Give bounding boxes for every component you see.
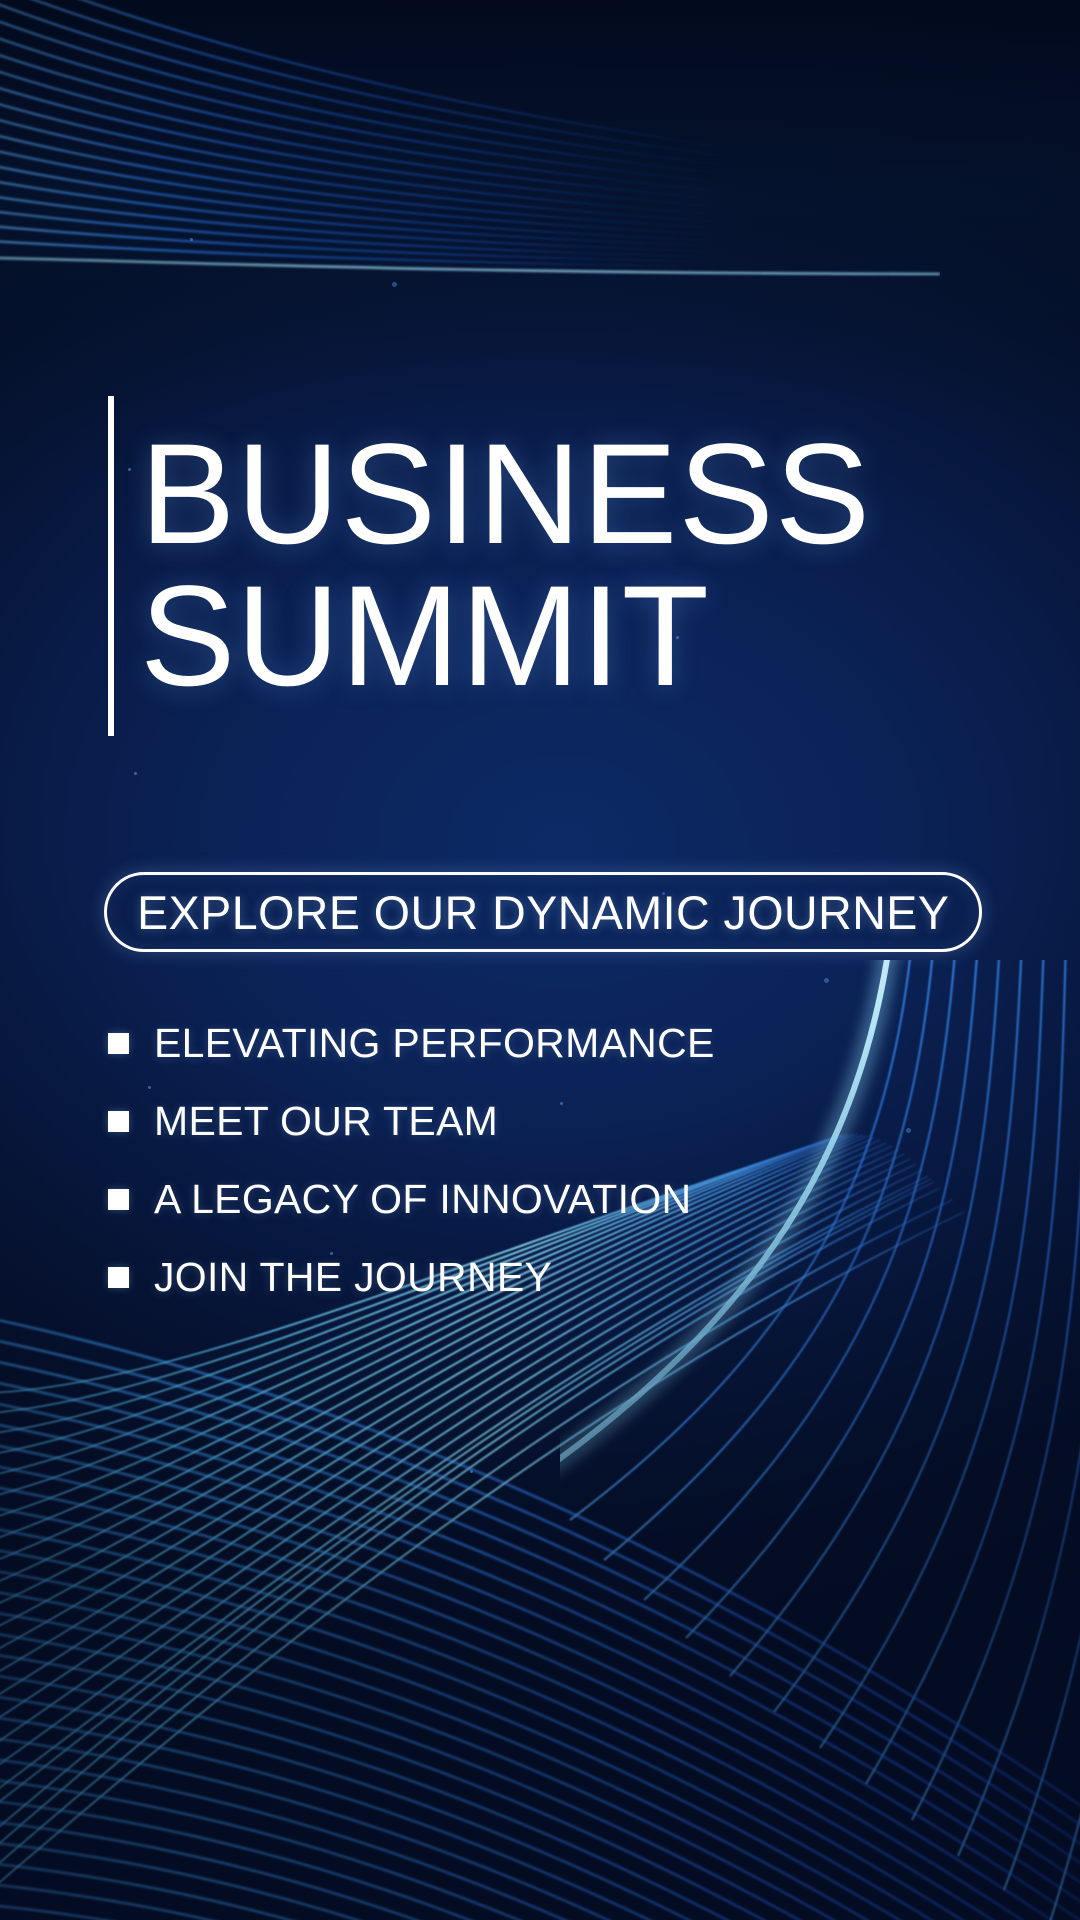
list-item[interactable]: ELEVATING PERFORMANCE <box>108 1004 948 1082</box>
title-text-group: BUSINESS SUMMIT <box>140 396 871 736</box>
square-bullet-icon <box>108 1111 129 1132</box>
title-accent-rule <box>108 396 114 736</box>
list-item-label: MEET OUR TEAM <box>154 1101 498 1142</box>
poster-canvas: BUSINESS SUMMIT EXPLORE OUR DYNAMIC JOUR… <box>0 0 1080 1920</box>
list-item-label: JOIN THE JOURNEY <box>154 1257 552 1298</box>
title-line-1: BUSINESS <box>140 424 871 566</box>
title-line-2: SUMMIT <box>140 566 871 708</box>
square-bullet-icon <box>108 1033 129 1054</box>
square-bullet-icon <box>108 1189 129 1210</box>
list-item-label: A LEGACY OF INNOVATION <box>154 1179 691 1220</box>
list-item-label: ELEVATING PERFORMANCE <box>154 1023 715 1064</box>
list-item[interactable]: JOIN THE JOURNEY <box>108 1238 948 1316</box>
list-item[interactable]: A LEGACY OF INNOVATION <box>108 1160 948 1238</box>
list-item[interactable]: MEET OUR TEAM <box>108 1082 948 1160</box>
feature-list: ELEVATING PERFORMANCE MEET OUR TEAM A LE… <box>108 1004 948 1316</box>
square-bullet-icon <box>108 1267 129 1288</box>
explore-journey-button[interactable]: EXPLORE OUR DYNAMIC JOURNEY <box>104 872 982 952</box>
explore-journey-button-label: EXPLORE OUR DYNAMIC JOURNEY <box>137 889 949 936</box>
poster-content: BUSINESS SUMMIT EXPLORE OUR DYNAMIC JOUR… <box>0 0 1080 1920</box>
page-title: BUSINESS SUMMIT <box>108 396 871 736</box>
